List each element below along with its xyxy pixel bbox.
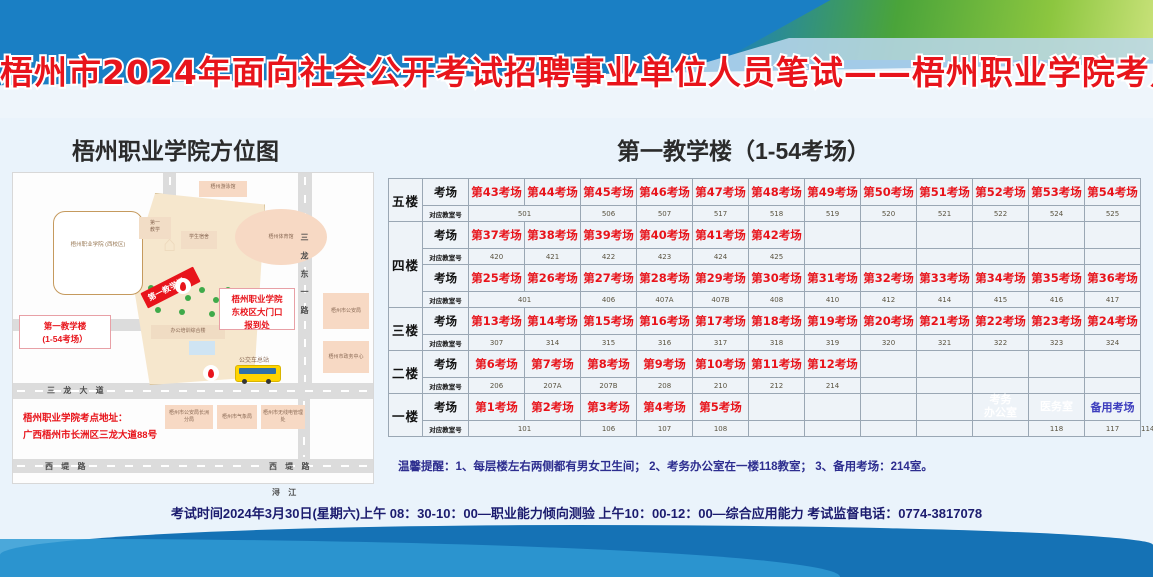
empty-cell	[861, 378, 917, 394]
label-text: 梧州市公安局	[331, 308, 361, 315]
exam-room-cell: 第28考场	[637, 265, 693, 292]
empty-cell	[973, 378, 1029, 394]
empty-cell	[1029, 378, 1085, 394]
classroom-number-cell: 424	[693, 249, 749, 265]
empty-cell	[917, 351, 973, 378]
map-heading: 梧州职业学院方位图	[72, 132, 279, 166]
exam-room-cell: 第16考场	[637, 308, 693, 335]
exam-room-cell: 第24考场	[1085, 308, 1141, 335]
exam-room-cell: 第45考场	[581, 179, 637, 206]
venue-address-line1: 梧州职业学院考点地址：	[23, 411, 128, 427]
classroom-number-cell: 416	[1029, 292, 1085, 308]
row-label-room: 对应教室号	[423, 292, 469, 308]
empty-cell	[861, 351, 917, 378]
exam-room-cell: 第39考场	[581, 222, 637, 249]
classroom-number-cell: 522	[973, 206, 1029, 222]
exam-room-cell: 第20考场	[861, 308, 917, 335]
classroom-number-cell: 410	[805, 292, 861, 308]
exam-room-cell: 第27考场	[581, 265, 637, 292]
exam-room-cell: 第41考场	[693, 222, 749, 249]
table-row: 对应教室号420421422423424425	[389, 249, 1141, 265]
table-row: 四楼考场第37考场第38考场第39考场第40考场第41考场第42考场	[389, 222, 1141, 249]
exam-room-table: 五楼考场第43考场第44考场第45考场第46考场第47考场第48考场第49考场第…	[388, 178, 1141, 437]
exam-room-cell: 第25考场	[469, 265, 525, 292]
exam-room-cell: 第31考场	[805, 265, 861, 292]
label-text: 梧州市无线电管理处	[263, 410, 303, 424]
row-label-exam: 考场	[423, 265, 469, 292]
exam-room-cell: 第12考场	[805, 351, 861, 378]
river-label: 浔 江	[272, 487, 299, 498]
table-row: 对应教室号501506507517518519520521522524525	[389, 206, 1141, 222]
row-label-room: 对应教室号	[423, 206, 469, 222]
classroom-number-cell: 321	[917, 335, 973, 351]
exam-room-cell: 备用考场	[1085, 394, 1141, 421]
row-label-room: 对应教室号	[423, 421, 469, 437]
classroom-number-cell: 501	[469, 206, 581, 222]
label-text: 梧州市公安局长洲分局	[167, 410, 211, 424]
classroom-number-cell: 117	[1085, 421, 1141, 437]
empty-cell	[805, 421, 861, 437]
classroom-number-cell: 401	[469, 292, 581, 308]
tree-icon	[185, 295, 191, 301]
table-row: 三楼考场第13考场第14考场第15考场第16考场第17考场第18考场第19考场第…	[389, 308, 1141, 335]
label-public-security-bureau: 梧州市公安局	[323, 293, 369, 329]
row-label-room: 对应教室号	[423, 335, 469, 351]
row-label-exam: 考场	[423, 179, 469, 206]
exam-room-cell: 第53考场	[1029, 179, 1085, 206]
row-label-exam: 考场	[423, 351, 469, 378]
classroom-number-cell: 518	[749, 206, 805, 222]
classroom-number-cell: 408	[749, 292, 805, 308]
exam-room-cell: 第33考场	[917, 265, 973, 292]
exam-room-cell: 第26考场	[525, 265, 581, 292]
exam-room-cell: 第15考场	[581, 308, 637, 335]
empty-cell	[861, 222, 917, 249]
classroom-number-cell: 319	[805, 335, 861, 351]
exam-room-cell: 第18考场	[749, 308, 805, 335]
exam-room-cell: 第22考场	[973, 308, 1029, 335]
table-heading: 第一教学楼（1-54考场）	[617, 132, 870, 166]
empty-cell	[917, 249, 973, 265]
row-label-room: 对应教室号	[423, 378, 469, 394]
classroom-number-cell: 206	[469, 378, 525, 394]
empty-cell	[861, 421, 917, 437]
callout-gate-text: 梧州职业学院 东校区大门口 报到处	[231, 294, 282, 330]
exam-room-cell: 第2考场	[525, 394, 581, 421]
classroom-number-cell: 412	[861, 292, 917, 308]
floor-label: 四楼	[389, 222, 423, 308]
label-changzhou-branch: 梧州市公安局长洲分局	[165, 405, 213, 429]
table-row: 五楼考场第43考场第44考场第45考场第46考场第47考场第48考场第49考场第…	[389, 179, 1141, 206]
map-pin-icon	[203, 365, 219, 381]
classroom-number-cell: 317	[693, 335, 749, 351]
exam-room-cell: 第8考场	[581, 351, 637, 378]
bus-station-label: 公交车总站	[239, 355, 269, 364]
poster-footer: 考试时间2024年3月30日(星期六)上午 08：30-10：00—职业能力倾向…	[0, 503, 1153, 522]
exam-room-cell: 考务办公室	[973, 394, 1029, 421]
classroom-number-cell: 207B	[581, 378, 637, 394]
empty-cell	[749, 394, 805, 421]
empty-cell	[1085, 249, 1141, 265]
campus-location-map: ⌂ 梧州职业学院 (西校区) 第一教学 学生宿舍 办公培训综合楼 第一教学楼 第…	[12, 172, 374, 484]
exam-room-cell: 第4考场	[637, 394, 693, 421]
classroom-number-cell: 422	[581, 249, 637, 265]
classroom-number-cell: 212	[749, 378, 805, 394]
tree-icon	[179, 309, 185, 315]
building-pond	[189, 341, 215, 355]
empty-cell	[973, 249, 1029, 265]
classroom-number-cell: 521	[917, 206, 973, 222]
classroom-number-cell: 421	[525, 249, 581, 265]
exam-room-cell: 第49考场	[805, 179, 861, 206]
label-meteorological-bureau: 梧州市气象局	[217, 405, 257, 429]
exam-room-cell: 第21考场	[917, 308, 973, 335]
classroom-number-cell: 315	[581, 335, 637, 351]
bus-icon	[235, 365, 281, 382]
empty-cell	[861, 249, 917, 265]
empty-cell	[805, 222, 861, 249]
empty-cell	[973, 351, 1029, 378]
classroom-number-cell: 210	[693, 378, 749, 394]
label-text: 梧州市气象局	[222, 414, 252, 421]
classroom-number-cell: 207A	[525, 378, 581, 394]
label-radio-management: 梧州市无线电管理处	[261, 405, 305, 429]
table-row: 对应教室号401406407A407B408410412414415416417	[389, 292, 1141, 308]
table-row: 对应教室号101106107108118117114	[389, 421, 1141, 437]
exam-room-cell: 第35考场	[1029, 265, 1085, 292]
classroom-number-cell: 423	[637, 249, 693, 265]
table-row: 一楼考场第1考场第2考场第3考场第4考场第5考场考务办公室医务室备用考场	[389, 394, 1141, 421]
empty-cell	[917, 378, 973, 394]
exam-room-cell: 第54考场	[1085, 179, 1141, 206]
table-note: 温馨提醒：1、每层楼左右两侧都有男女卫生间； 2、考务办公室在一楼118教室； …	[398, 458, 933, 474]
classroom-number-cell: 520	[861, 206, 917, 222]
floor-label: 三楼	[389, 308, 423, 351]
table-row: 对应教室号30731431531631731831932032132232332…	[389, 335, 1141, 351]
road-label-xidi-left: 西 堤 路	[45, 461, 88, 472]
classroom-number-cell: 107	[637, 421, 693, 437]
exam-room-cell: 第19考场	[805, 308, 861, 335]
classroom-number-cell: 307	[469, 335, 525, 351]
poster-canvas: 梧州市2024年面向社会公开考试招聘事业单位人员笔试——梧州职业学院考点 梧州职…	[0, 0, 1153, 577]
classroom-number-cell: 208	[637, 378, 693, 394]
exam-room-cell: 第13考场	[469, 308, 525, 335]
floor-label: 一楼	[389, 394, 423, 437]
exam-room-cell: 第51考场	[917, 179, 973, 206]
empty-cell	[1085, 378, 1141, 394]
classroom-number-cell: 320	[861, 335, 917, 351]
exam-room-cell: 第23考场	[1029, 308, 1085, 335]
row-label-exam: 考场	[423, 222, 469, 249]
floor-label: 二楼	[389, 351, 423, 394]
classroom-number-cell: 425	[749, 249, 805, 265]
classroom-number-cell: 417	[1085, 292, 1141, 308]
exam-room-cell: 第7考场	[525, 351, 581, 378]
exam-room-cell: 第46考场	[637, 179, 693, 206]
table-row: 二楼考场第6考场第7考场第8考场第9考场第10考场第11考场第12考场	[389, 351, 1141, 378]
table-row: 对应教室号206207A207B208210212214	[389, 378, 1141, 394]
row-label-exam: 考场	[423, 308, 469, 335]
label-text: 梧州游泳馆	[210, 184, 235, 190]
empty-cell	[749, 421, 805, 437]
classroom-number-cell: 406	[581, 292, 637, 308]
empty-cell	[917, 421, 973, 437]
label-text: 梧州体育馆	[268, 234, 293, 241]
exam-room-cell: 第3考场	[581, 394, 637, 421]
exam-room-cell: 第42考场	[749, 222, 805, 249]
classroom-number-cell: 420	[469, 249, 525, 265]
classroom-number-cell: 314	[525, 335, 581, 351]
classroom-number-cell: 108	[693, 421, 749, 437]
exam-room-cell: 第17考场	[693, 308, 749, 335]
exam-room-cell: 第36考场	[1085, 265, 1141, 292]
exam-room-cell: 第11考场	[749, 351, 805, 378]
exam-room-cell: 第30考场	[749, 265, 805, 292]
classroom-number-cell: 316	[637, 335, 693, 351]
exam-room-cell: 第1考场	[469, 394, 525, 421]
tree-icon	[155, 307, 161, 313]
row-label-exam: 考场	[423, 394, 469, 421]
building-admin-training: 办公培训综合楼	[151, 325, 225, 339]
exam-room-cell: 第9考场	[637, 351, 693, 378]
classroom-number-cell: 318	[749, 335, 805, 351]
callout-building-text: 第一教学楼 (1-54考场）	[42, 321, 87, 344]
row-label-room: 对应教室号	[423, 249, 469, 265]
exam-room-cell: 第44考场	[525, 179, 581, 206]
classroom-number-cell: 525	[1085, 206, 1141, 222]
classroom-number-cell: 118	[1029, 421, 1085, 437]
classroom-number-cell: 506	[581, 206, 637, 222]
classroom-number-cell: 507	[637, 206, 693, 222]
venue-address-line2: 广西梧州市长洲区三龙大道88号	[23, 428, 157, 444]
label-text: 梧州市政务中心	[328, 354, 363, 361]
classroom-number-cell: 524	[1029, 206, 1085, 222]
road-label-sanlong-avenue: 三 龙 大 道	[47, 385, 107, 396]
exam-room-cell: 第6考场	[469, 351, 525, 378]
poster-title: 梧州市2024年面向社会公开考试招聘事业单位人员笔试——梧州职业学院考点	[0, 46, 1153, 94]
map-pin-icon	[175, 278, 191, 294]
exam-room-cell: 第10考场	[693, 351, 749, 378]
empty-cell	[973, 222, 1029, 249]
classroom-number-cell: 106	[581, 421, 637, 437]
road-label-xidi-right: 西 堤 路	[269, 461, 312, 472]
exam-room-cell: 第34考场	[973, 265, 1029, 292]
empty-cell	[805, 249, 861, 265]
exam-room-cell: 第14考场	[525, 308, 581, 335]
empty-cell	[805, 394, 861, 421]
exam-room-cell: 第32考场	[861, 265, 917, 292]
classroom-number-cell: 517	[693, 206, 749, 222]
empty-cell	[1029, 249, 1085, 265]
empty-cell	[861, 394, 917, 421]
tree-icon	[199, 287, 205, 293]
classroom-number-cell: 407B	[693, 292, 749, 308]
table-row: 考场第25考场第26考场第27考场第28考场第29考场第30考场第31考场第32…	[389, 265, 1141, 292]
empty-cell	[973, 421, 1029, 437]
classroom-number-cell: 324	[1085, 335, 1141, 351]
empty-cell	[917, 394, 973, 421]
poster-title-text: 梧州市2024年面向社会公开考试招聘事业单位人员笔试——梧州职业学院考点	[0, 46, 1153, 94]
exam-room-table-body: 五楼考场第43考场第44考场第45考场第46考场第47考场第48考场第49考场第…	[389, 179, 1141, 437]
callout-first-teaching-building: 第一教学楼 (1-54考场）	[19, 315, 111, 349]
classroom-number-cell: 214	[805, 378, 861, 394]
classroom-number-cell: 323	[1029, 335, 1085, 351]
classroom-number-cell: 519	[805, 206, 861, 222]
classroom-number-cell: 322	[973, 335, 1029, 351]
exam-room-cell: 第52考场	[973, 179, 1029, 206]
background-bottom-wave	[0, 517, 1153, 577]
label-government-center: 梧州市政务中心	[323, 341, 369, 373]
exam-room-cell: 第47考场	[693, 179, 749, 206]
empty-cell	[1029, 222, 1085, 249]
tree-icon	[209, 311, 215, 317]
exam-room-cell: 第5考场	[693, 394, 749, 421]
exam-room-cell: 第43考场	[469, 179, 525, 206]
exam-room-cell: 第48考场	[749, 179, 805, 206]
empty-cell	[1085, 222, 1141, 249]
label-swimming-hall: 梧州游泳馆	[199, 181, 247, 197]
classroom-number-cell: 415	[973, 292, 1029, 308]
empty-cell	[1029, 351, 1085, 378]
classroom-number-cell: 407A	[637, 292, 693, 308]
label-sports-hall: 梧州体育馆	[235, 209, 327, 265]
empty-cell	[1085, 351, 1141, 378]
road-label-sanlong-east: 三 龙 东 一 路	[299, 233, 310, 318]
floor-label: 五楼	[389, 179, 423, 222]
exam-room-cell: 第37考场	[469, 222, 525, 249]
empty-cell	[917, 222, 973, 249]
exam-room-cell: 第50考场	[861, 179, 917, 206]
callout-east-gate: 梧州职业学院 东校区大门口 报到处	[219, 288, 295, 330]
exam-room-cell: 第29考场	[693, 265, 749, 292]
exam-room-cell: 第40考场	[637, 222, 693, 249]
exam-room-table-wrap: 五楼考场第43考场第44考场第45考场第46考场第47考场第48考场第49考场第…	[388, 178, 1140, 437]
exam-room-cell: 医务室	[1029, 394, 1085, 421]
exam-room-cell: 第38考场	[525, 222, 581, 249]
classroom-number-cell: 101	[469, 421, 581, 437]
classroom-number-cell: 414	[917, 292, 973, 308]
